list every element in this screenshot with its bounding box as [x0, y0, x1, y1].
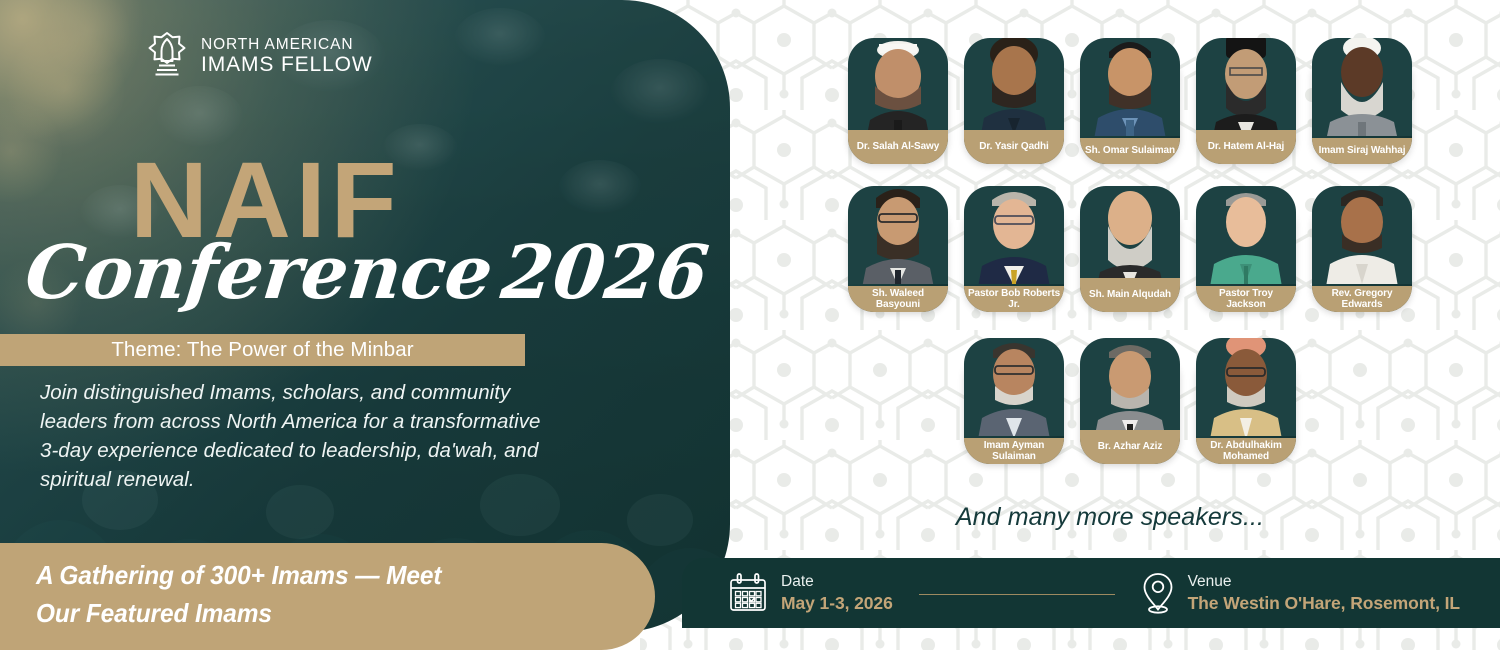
speaker-photo [964, 186, 1064, 284]
speaker-card[interactable]: Sh. Omar Sulaiman [1080, 52, 1180, 164]
brand-line-1: NORTH AMERICAN [201, 37, 373, 53]
speaker-name: Dr. Abdulhakim Mohamed [1199, 440, 1293, 463]
speaker-card[interactable]: Pastor Troy Jackson [1196, 200, 1296, 312]
cta-text: A Gathering of 300+ Imams — Meet Our Fea… [36, 557, 600, 633]
speaker-card[interactable]: Sh. Main Alqudah [1080, 200, 1180, 312]
date-label: Date [781, 573, 893, 591]
venue-label: Venue [1188, 573, 1460, 591]
speaker-photo [964, 38, 1064, 136]
more-speakers-text: And many more speakers... [720, 503, 1500, 532]
speaker-photo [964, 338, 1064, 436]
hero-panel: NORTH AMERICAN IMAMS FELLOW NAIF Confere… [0, 0, 730, 632]
speaker-name-chip: Pastor Bob Roberts Jr. [964, 286, 1064, 312]
speaker-name: Pastor Bob Roberts Jr. [967, 288, 1061, 311]
speaker-name: Imam Ayman Sulaiman [967, 440, 1061, 463]
speaker-row-2: Sh. Waleed Basyouni Pastor [840, 200, 1420, 312]
speaker-name-chip: Imam Siraj Wahhaj [1312, 138, 1412, 164]
speaker-name: Dr. Salah Al-Sawy [857, 141, 939, 152]
speaker-name-chip: Pastor Troy Jackson [1196, 286, 1296, 312]
date-value: May 1-3, 2026 [781, 593, 893, 613]
speaker-name-chip: Dr. Abdulhakim Mohamed [1196, 438, 1296, 464]
speaker-photo [848, 186, 948, 284]
speaker-name-chip: Sh. Waleed Basyouni [848, 286, 948, 312]
speaker-photo [1312, 38, 1412, 136]
speaker-name: Dr. Yasir Qadhi [979, 141, 1048, 152]
speaker-name: Sh. Waleed Basyouni [851, 288, 945, 311]
venue-info: Venue The Westin O'Hare, Rosemont, IL [1141, 571, 1460, 615]
speaker-name-chip: Dr. Yasir Qadhi [964, 130, 1064, 164]
brand-line-2: IMAMS FELLOW [201, 54, 373, 75]
conference-banner: NORTH AMERICAN IMAMS FELLOW NAIF Confere… [0, 0, 1500, 650]
speaker-photo [1196, 38, 1296, 136]
event-info-bar: Date May 1-3, 2026 Venue The Westin O'Ha… [682, 558, 1500, 628]
speaker-name-chip: Imam Ayman Sulaiman [964, 438, 1064, 464]
divider [919, 594, 1115, 595]
venue-photo-texture [0, 0, 730, 632]
venue-text: Venue The Westin O'Hare, Rosemont, IL [1188, 573, 1460, 613]
speaker-name: Br. Azhar Aziz [1098, 441, 1163, 452]
speaker-card[interactable]: Imam Siraj Wahhaj [1312, 52, 1412, 164]
speaker-name-chip: Dr. Hatem Al-Haj [1196, 130, 1296, 164]
theme-text: Theme: The Power of the Minbar [111, 338, 413, 362]
speaker-name: Sh. Omar Sulaiman [1085, 145, 1175, 156]
speaker-name: Sh. Main Alqudah [1089, 289, 1171, 300]
speaker-card[interactable]: Dr. Hatem Al-Haj [1196, 52, 1296, 164]
mosque-minbar-star-icon [146, 30, 188, 82]
speaker-name-chip: Sh. Main Alqudah [1080, 278, 1180, 312]
event-title: Conference 2026 [26, 236, 708, 310]
date-info: Date May 1-3, 2026 [728, 572, 893, 614]
speaker-card[interactable]: Br. Azhar Aziz [1080, 352, 1180, 464]
speaker-row-3: Imam Ayman Sulaiman Br. Az [942, 352, 1318, 464]
cta-line-2: Our Featured Imams [36, 595, 600, 633]
speaker-card[interactable]: Dr. Salah Al-Sawy [848, 52, 948, 164]
event-title-word: Conference [22, 236, 495, 310]
speaker-name-chip: Rev. Gregory Edwards [1312, 286, 1412, 312]
speaker-name: Imam Siraj Wahhaj [1319, 145, 1406, 156]
brand-name: NORTH AMERICAN IMAMS FELLOW [201, 37, 373, 76]
speaker-name-chip: Dr. Salah Al-Sawy [848, 130, 948, 164]
event-description: Join distinguished Imams, scholars, and … [40, 378, 560, 494]
date-text: Date May 1-3, 2026 [781, 573, 893, 613]
speaker-photo [1312, 186, 1412, 284]
calendar-icon [728, 572, 768, 614]
cta-band: A Gathering of 300+ Imams — Meet Our Fea… [0, 543, 655, 650]
speaker-name: Dr. Hatem Al-Haj [1208, 141, 1284, 152]
speaker-card[interactable]: Sh. Waleed Basyouni [848, 200, 948, 312]
speaker-card[interactable]: Dr. Yasir Qadhi [964, 52, 1064, 164]
speaker-name: Pastor Troy Jackson [1199, 288, 1293, 311]
location-pin-icon [1141, 571, 1175, 615]
event-year: 2026 [498, 236, 712, 310]
speaker-card[interactable]: Dr. Abdulhakim Mohamed [1196, 352, 1296, 464]
speaker-name: Rev. Gregory Edwards [1315, 288, 1409, 311]
speaker-name-chip: Sh. Omar Sulaiman [1080, 138, 1180, 164]
speaker-photo [1080, 38, 1180, 136]
brand-logo: NORTH AMERICAN IMAMS FELLOW [146, 30, 373, 82]
speaker-photo [1196, 338, 1296, 436]
speaker-card[interactable]: Pastor Bob Roberts Jr. [964, 200, 1064, 312]
theme-banner: Theme: The Power of the Minbar [0, 334, 525, 366]
speaker-photo [1080, 338, 1180, 436]
speaker-card[interactable]: Rev. Gregory Edwards [1312, 200, 1412, 312]
speaker-row-1: Dr. Salah Al-Sawy Dr. Yasir Qadhi [840, 52, 1420, 164]
cta-line-1: A Gathering of 300+ Imams — Meet [36, 557, 600, 595]
speaker-photo [1196, 186, 1296, 284]
speaker-photo [1080, 186, 1180, 284]
speaker-card[interactable]: Imam Ayman Sulaiman [964, 352, 1064, 464]
venue-value: The Westin O'Hare, Rosemont, IL [1188, 593, 1460, 613]
speaker-photo [848, 38, 948, 136]
speaker-grid: Dr. Salah Al-Sawy Dr. Yasir Qadhi [720, 0, 1500, 560]
speaker-name-chip: Br. Azhar Aziz [1080, 430, 1180, 464]
